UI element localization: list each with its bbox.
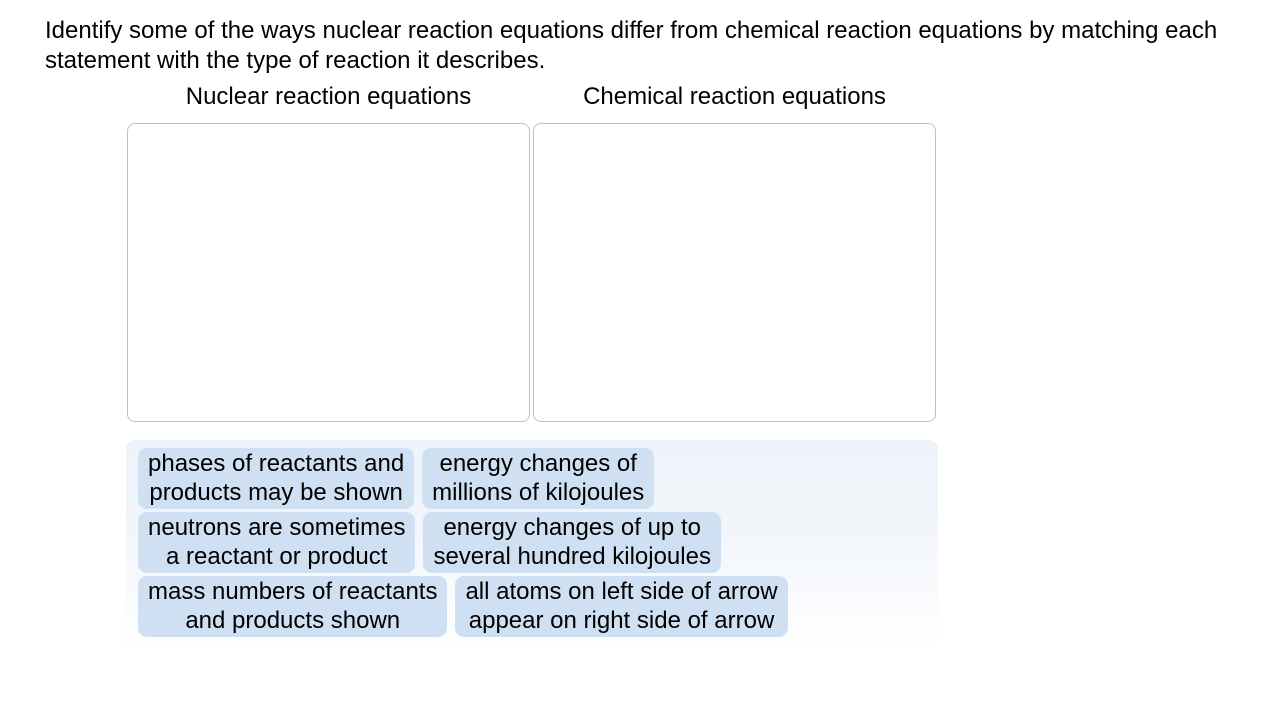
draggable-tile[interactable]: energy changes of millions of kilojoules	[422, 448, 654, 509]
drop-zone-container: Nuclear reaction equations Chemical reac…	[127, 82, 937, 422]
drop-zone-column-chemical: Chemical reaction equations	[533, 82, 936, 422]
drop-zone-chemical[interactable]	[533, 123, 936, 422]
drop-zone-nuclear[interactable]	[127, 123, 530, 422]
draggable-tile[interactable]: all atoms on left side of arrow appear o…	[455, 576, 787, 637]
draggable-tile-list: phases of reactants and products may be …	[126, 448, 938, 640]
instruction-text: Identify some of the ways nuclear reacti…	[45, 16, 1240, 76]
draggable-tile[interactable]: neutrons are sometimes a reactant or pro…	[138, 512, 415, 573]
drop-zone-title-nuclear: Nuclear reaction equations	[127, 82, 530, 112]
draggable-tile[interactable]: energy changes of up to several hundred …	[423, 512, 721, 573]
drop-zone-column-nuclear: Nuclear reaction equations	[127, 82, 530, 422]
drop-zone-title-chemical: Chemical reaction equations	[533, 82, 936, 112]
tile-tray: phases of reactants and products may be …	[126, 440, 938, 652]
draggable-tile[interactable]: phases of reactants and products may be …	[138, 448, 414, 509]
draggable-tile[interactable]: mass numbers of reactants and products s…	[138, 576, 447, 637]
